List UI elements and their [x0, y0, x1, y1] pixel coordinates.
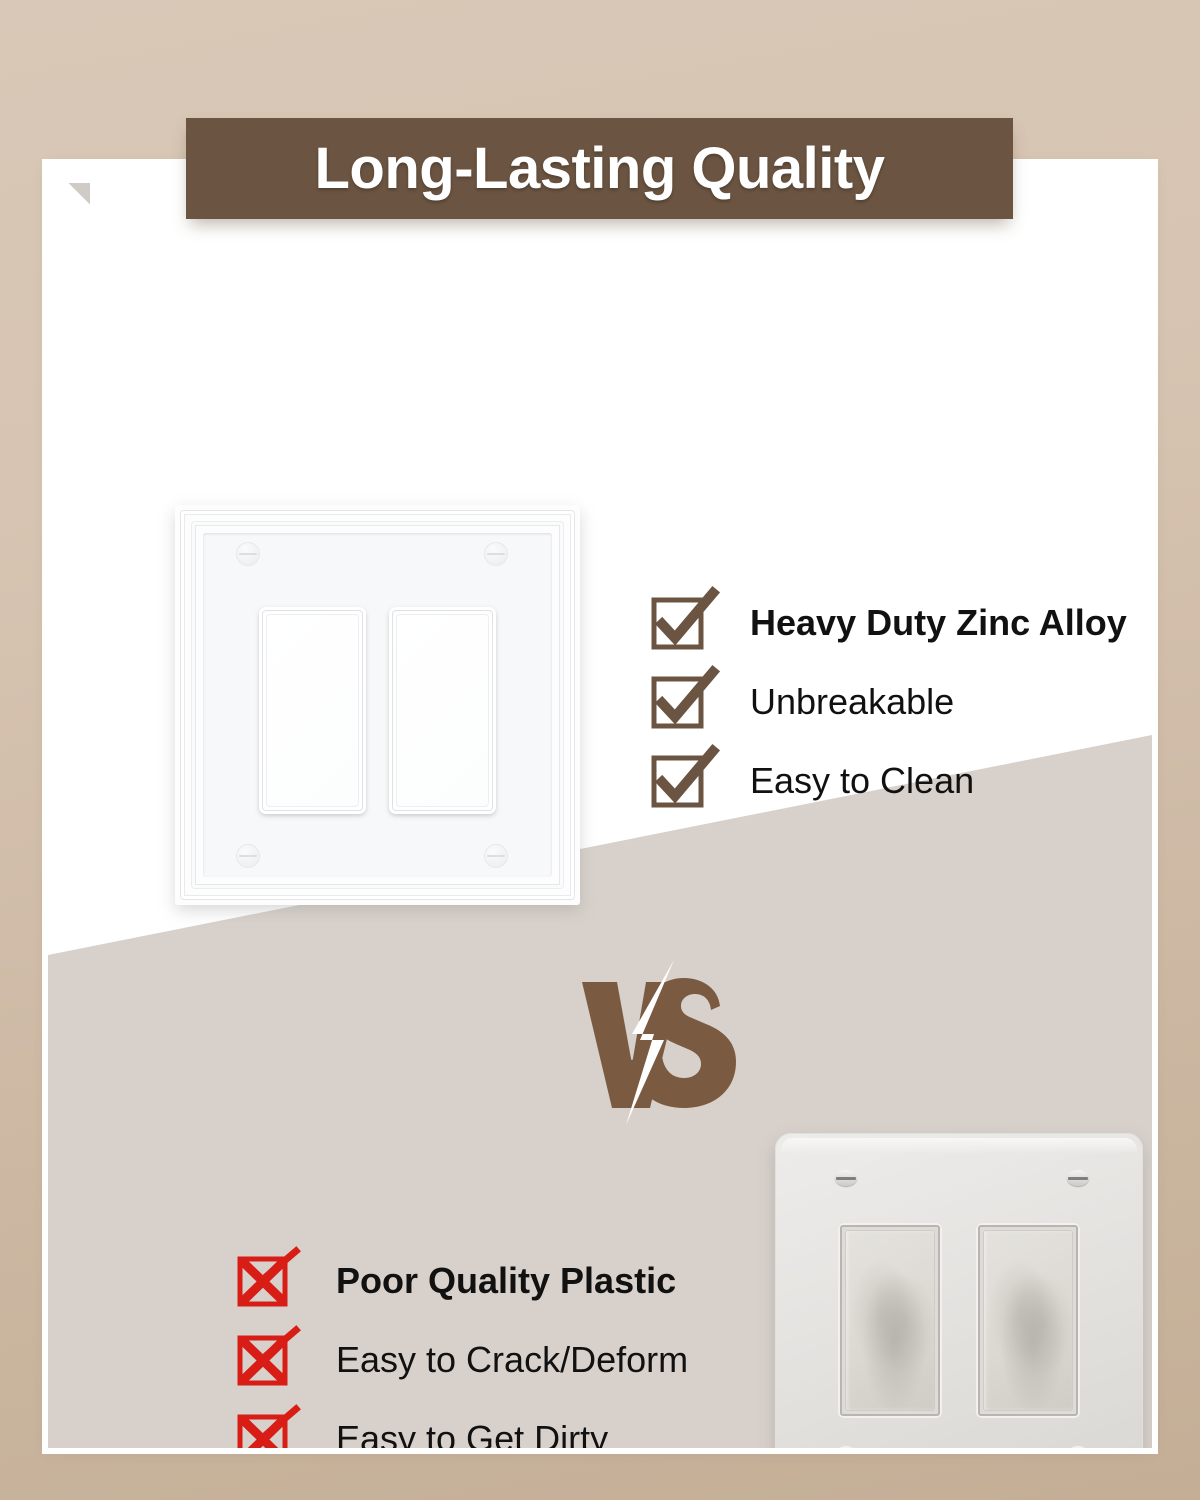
screw-top-left-icon — [236, 542, 260, 566]
plate-face — [203, 533, 552, 877]
wall-plate-plastic-image — [775, 1133, 1143, 1448]
versus-badge — [568, 960, 748, 1125]
checkbox-check-icon — [652, 755, 704, 807]
page-title: Long-Lasting Quality — [315, 140, 885, 198]
list-item: Easy to Get Dirty — [238, 1399, 688, 1448]
screw-bottom-right-icon — [1067, 1446, 1089, 1448]
list-item-label: Easy to Crack/Deform — [336, 1339, 688, 1381]
benefits-list: Heavy Duty Zinc Alloy Unbreakable Easy t… — [652, 583, 1127, 820]
list-item: Heavy Duty Zinc Alloy — [652, 583, 1127, 662]
rocker-switch-right — [976, 1223, 1080, 1418]
rocker-face-stained — [845, 1230, 935, 1411]
checkbox-check-icon — [652, 676, 704, 728]
drawbacks-list: Poor Quality Plastic Easy to Crack/Defor… — [238, 1241, 688, 1448]
screw-top-right-icon — [484, 542, 508, 566]
screw-bottom-left-icon — [236, 844, 260, 868]
screw-bottom-right-icon — [484, 844, 508, 868]
list-item: Unbreakable — [652, 662, 1127, 741]
list-item-label: Unbreakable — [750, 681, 954, 723]
checkbox-x-icon — [238, 1334, 290, 1386]
list-item-label: Easy to Clean — [750, 760, 974, 802]
list-item: Easy to Crack/Deform — [238, 1320, 688, 1399]
infographic-card: Heavy Duty Zinc Alloy Unbreakable Easy t… — [48, 165, 1152, 1448]
rocker-switch-left — [259, 607, 366, 814]
list-item: Poor Quality Plastic — [238, 1241, 688, 1320]
list-item: Easy to Clean — [652, 741, 1127, 820]
list-item-label: Easy to Get Dirty — [336, 1418, 608, 1449]
checkbox-x-icon — [238, 1413, 290, 1449]
screw-bottom-left-icon — [835, 1446, 857, 1448]
wall-plate-premium-image — [175, 505, 580, 905]
list-item-label: Poor Quality Plastic — [336, 1260, 676, 1302]
title-banner: Long-Lasting Quality — [186, 118, 1013, 219]
checkbox-x-icon — [238, 1255, 290, 1307]
list-item-label: Heavy Duty Zinc Alloy — [750, 602, 1127, 644]
screw-top-left-icon — [835, 1170, 857, 1186]
rocker-face-stained — [983, 1230, 1073, 1411]
checkbox-check-icon — [652, 597, 704, 649]
screw-top-right-icon — [1067, 1170, 1089, 1186]
rocker-switch-left — [838, 1223, 942, 1418]
corner-fold-artifact — [68, 183, 90, 205]
rocker-switch-right — [389, 607, 496, 814]
